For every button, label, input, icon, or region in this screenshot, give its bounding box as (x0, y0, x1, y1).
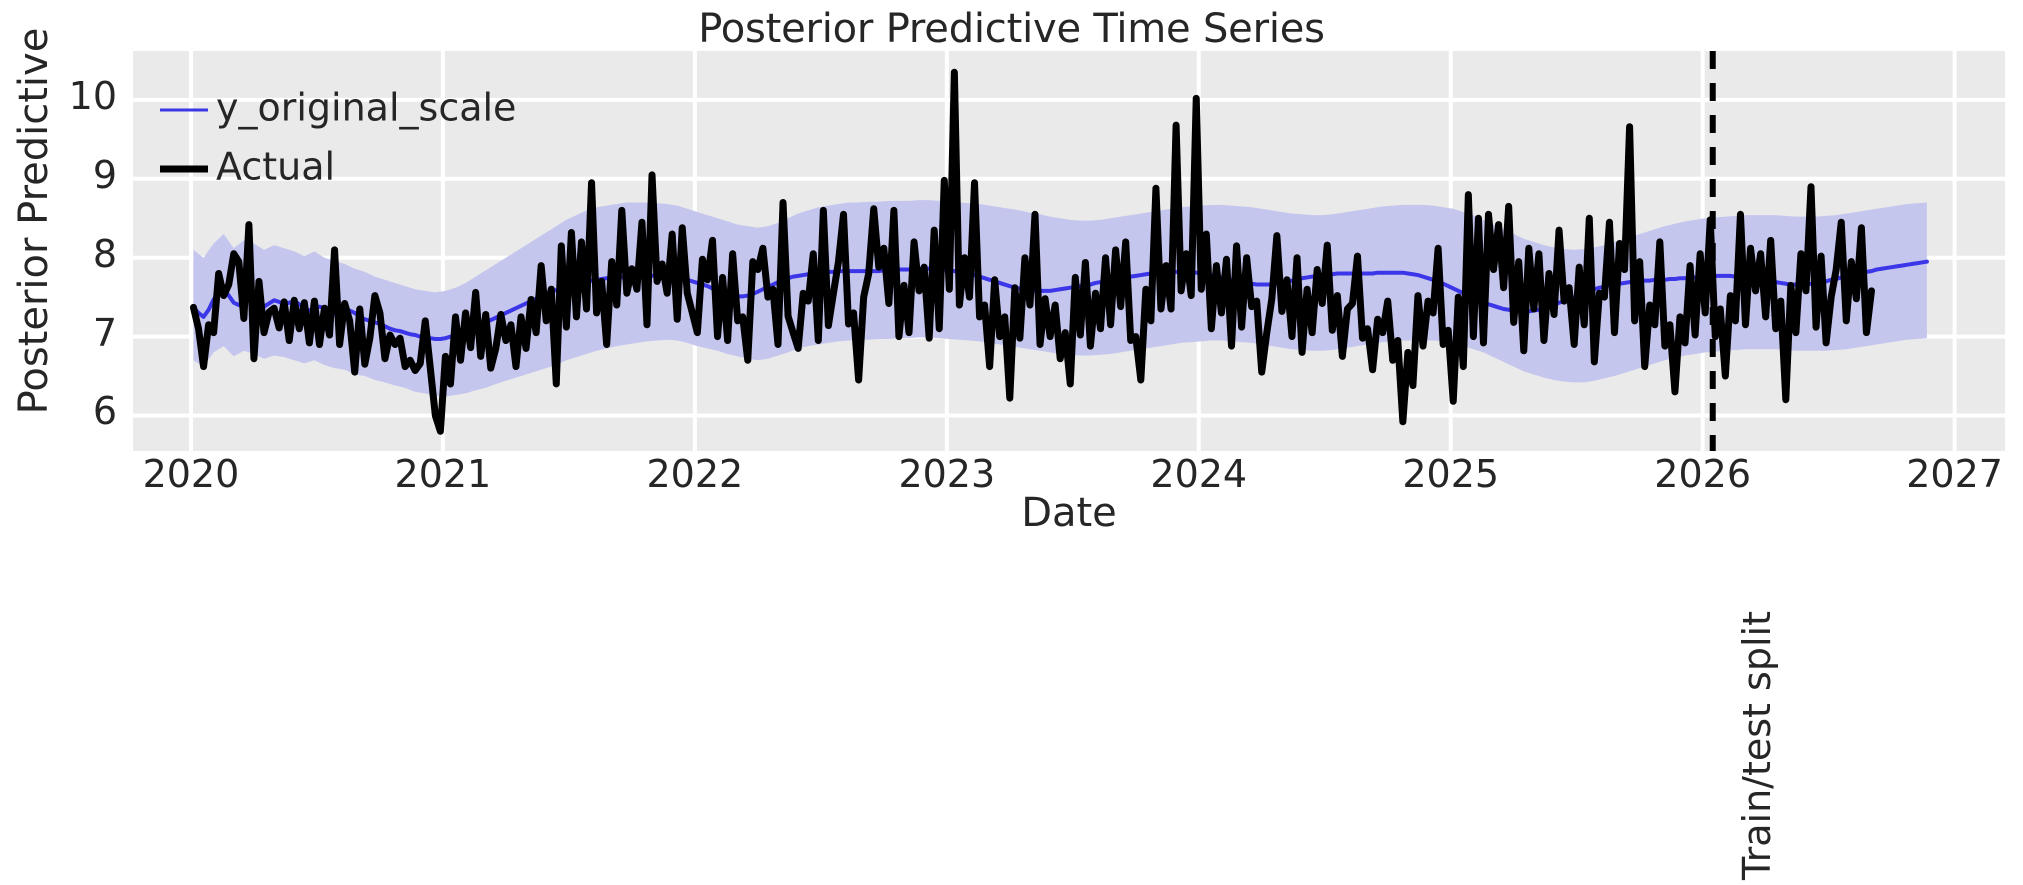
x-tick-label: 2023 (872, 452, 1022, 496)
x-tick-label: 2021 (368, 452, 518, 496)
x-tick-label: 2022 (620, 452, 770, 496)
x-tick-label: 2025 (1376, 452, 1526, 496)
y-tick-label: 9 (93, 153, 117, 197)
plot-canvas: y_original_scale Actual (0, 0, 2023, 885)
y-tick-label: 7 (93, 311, 117, 355)
train-test-split-label: Train/test split (1735, 611, 1779, 880)
chart-figure: Posterior Predictive Time Series Posteri… (0, 0, 2023, 885)
y-tick-label: 8 (93, 232, 117, 276)
x-tick-label: 2026 (1628, 452, 1778, 496)
legend-label-y-original-scale: y_original_scale (216, 86, 516, 130)
y-axis-label: Posterior Predictive (11, 21, 57, 421)
x-tick-label: 2020 (116, 452, 266, 496)
x-tick-label: 2027 (1880, 452, 2023, 496)
x-axis-label: Date (133, 490, 2005, 536)
y-tick-label: 6 (93, 389, 117, 433)
legend-label-actual: Actual (216, 145, 335, 189)
x-tick-label: 2024 (1124, 452, 1274, 496)
y-tick-label: 10 (69, 74, 117, 118)
page-title: Posterior Predictive Time Series (0, 6, 2023, 52)
